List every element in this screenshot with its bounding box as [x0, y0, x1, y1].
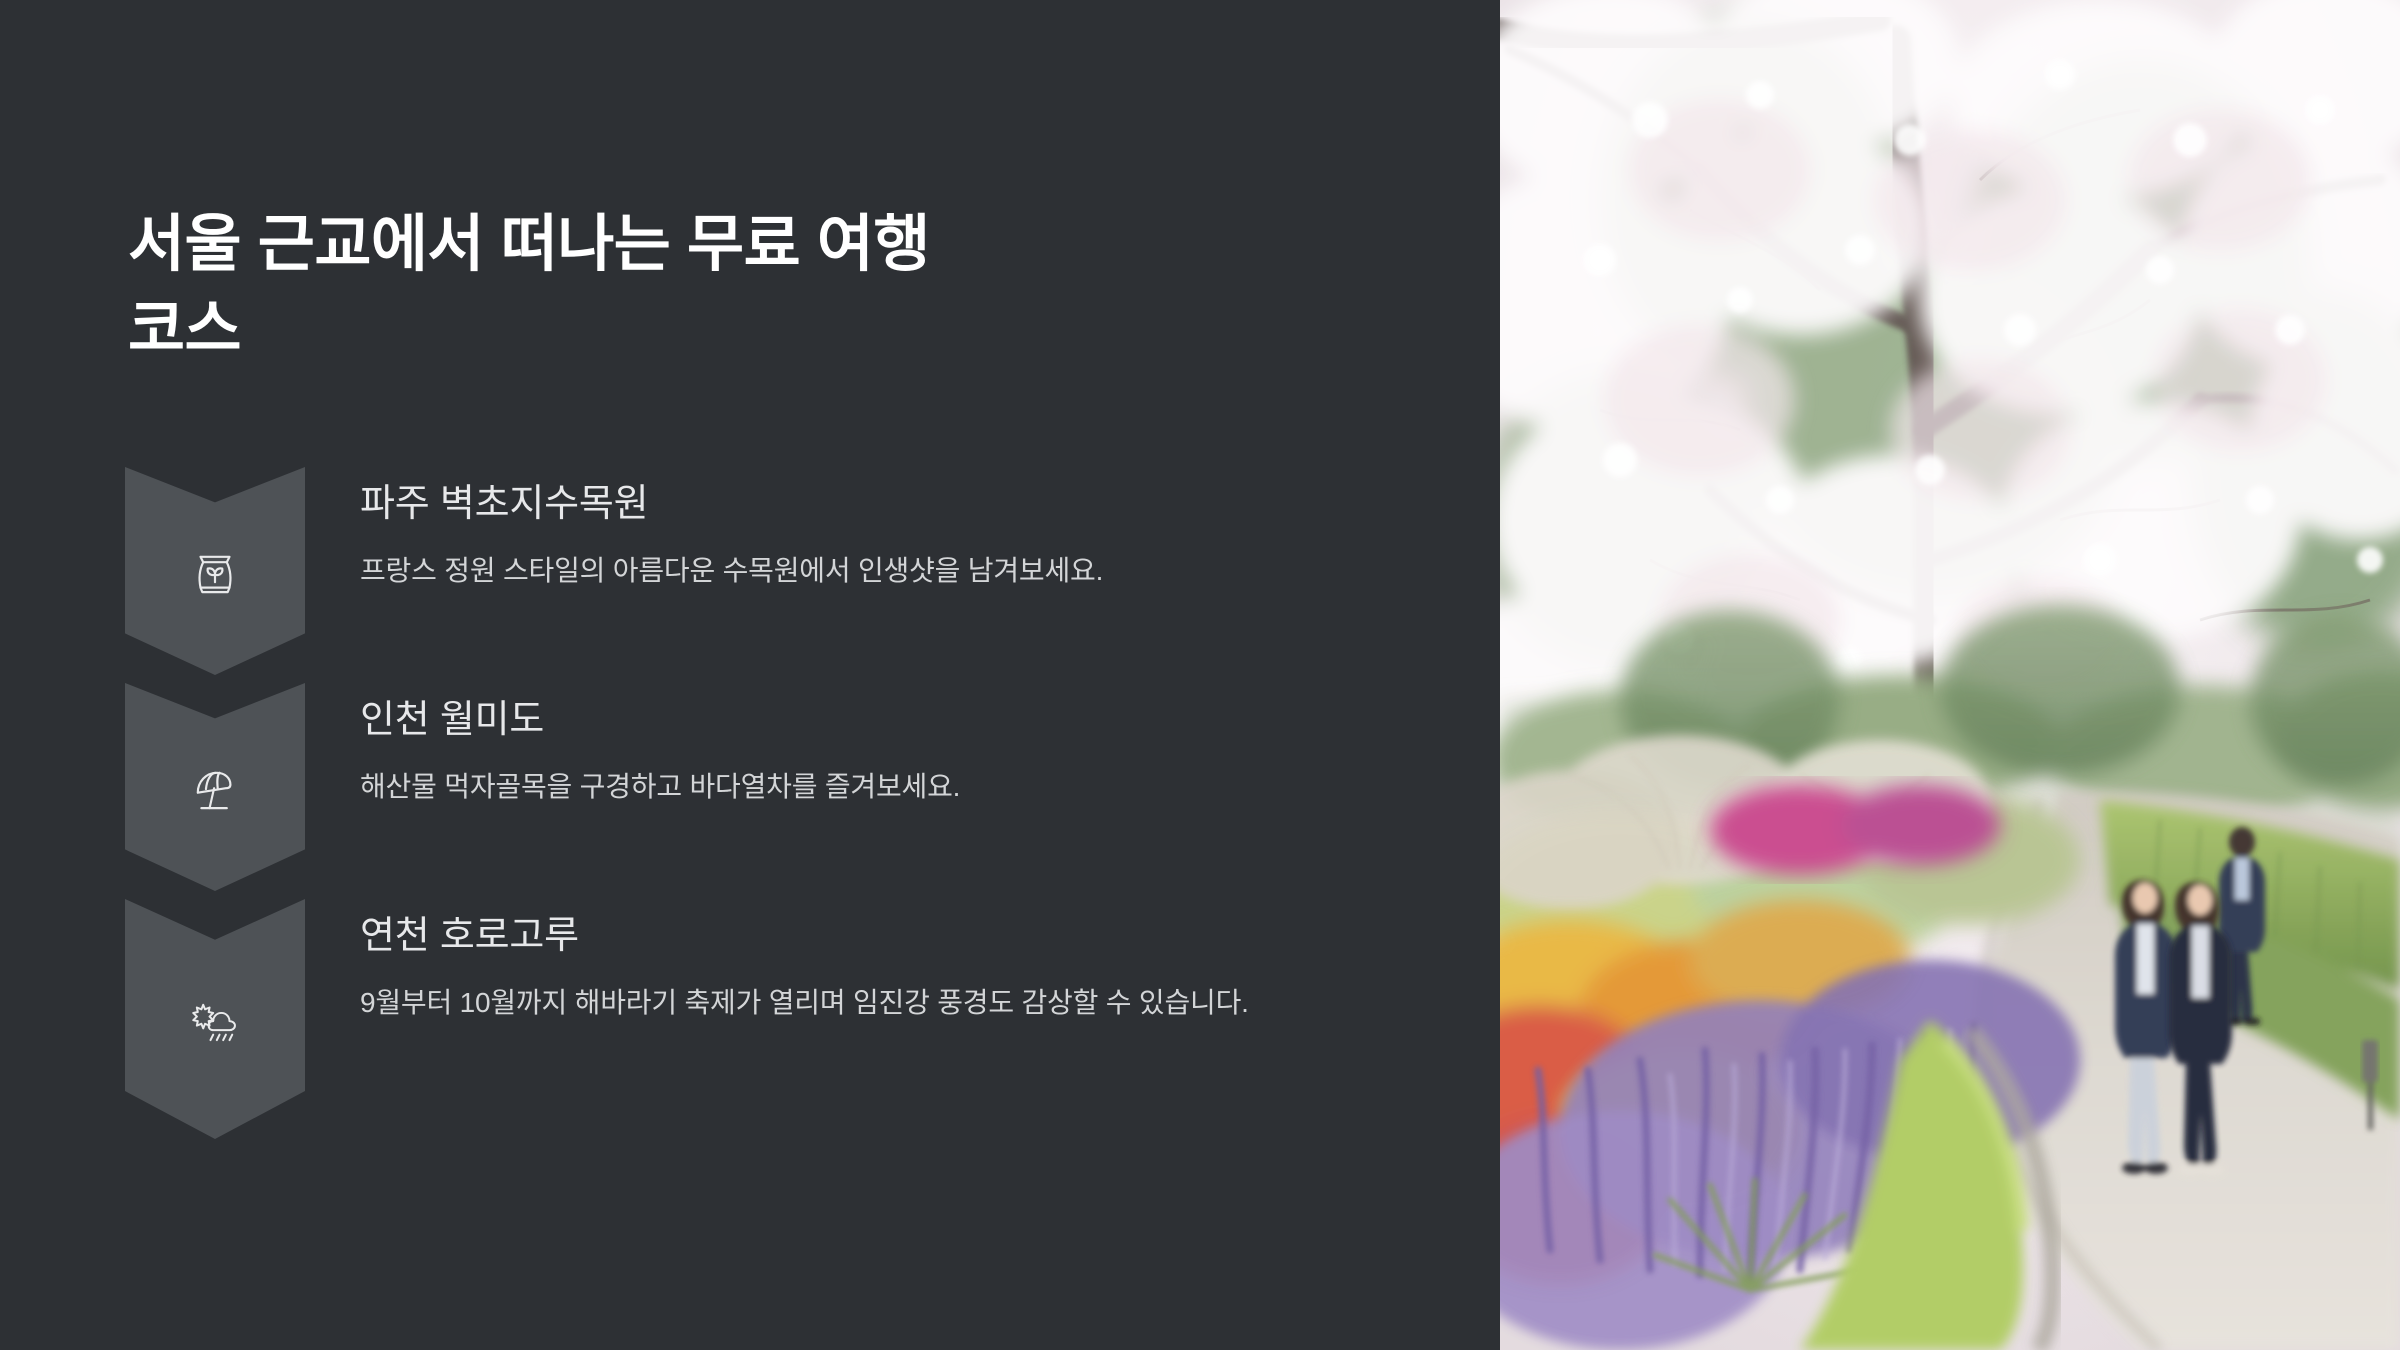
list-item[interactable]: 인천 월미도 해산물 먹자골목을 구경하고 바다열차를 즐겨보세요. [0, 683, 1500, 899]
item-title: 인천 월미도 [360, 695, 1390, 746]
item-text-block: 인천 월미도 해산물 먹자골목을 구경하고 바다열차를 즐겨보세요. [360, 695, 1390, 810]
seed-bag-icon [186, 545, 244, 603]
item-title: 파주 벽초지수목원 [360, 479, 1390, 530]
list-item[interactable]: 연천 호로고루 9월부터 10월까지 해바라기 축제가 열리며 임진강 풍경도 … [0, 899, 1500, 1149]
page-title: 서울 근교에서 떠나는 무료 여행 코스 [128, 202, 1348, 373]
travel-course-list: 파주 벽초지수목원 프랑스 정원 스타일의 아름다운 수목원에서 인생샷을 남겨… [0, 467, 1500, 1149]
item-description: 프랑스 정원 스타일의 아름다운 수목원에서 인생샷을 남겨보세요. [360, 548, 1390, 593]
beach-umbrella-icon [186, 761, 244, 819]
left-content-panel: 서울 근교에서 떠나는 무료 여행 코스 [0, 0, 1500, 1350]
item-text-block: 파주 벽초지수목원 프랑스 정원 스타일의 아름다운 수목원에서 인생샷을 남겨… [360, 479, 1390, 594]
item-text-block: 연천 호로고루 9월부터 10월까지 해바라기 축제가 열리며 임진강 풍경도 … [360, 911, 1390, 1026]
item-title: 연천 호로고루 [360, 911, 1390, 962]
sun-cloud-rain-icon [186, 993, 244, 1051]
slide-root: 서울 근교에서 떠나는 무료 여행 코스 [0, 0, 2400, 1350]
list-item[interactable]: 파주 벽초지수목원 프랑스 정원 스타일의 아름다운 수목원에서 인생샷을 남겨… [0, 467, 1500, 683]
hero-photo [1500, 0, 2400, 1350]
icon-badge [125, 683, 305, 891]
icon-badge [125, 899, 305, 1139]
item-description: 해산물 먹자골목을 구경하고 바다열차를 즐겨보세요. [360, 764, 1390, 809]
icon-badge [125, 467, 305, 675]
item-description: 9월부터 10월까지 해바라기 축제가 열리며 임진강 풍경도 감상할 수 있습… [360, 980, 1390, 1025]
